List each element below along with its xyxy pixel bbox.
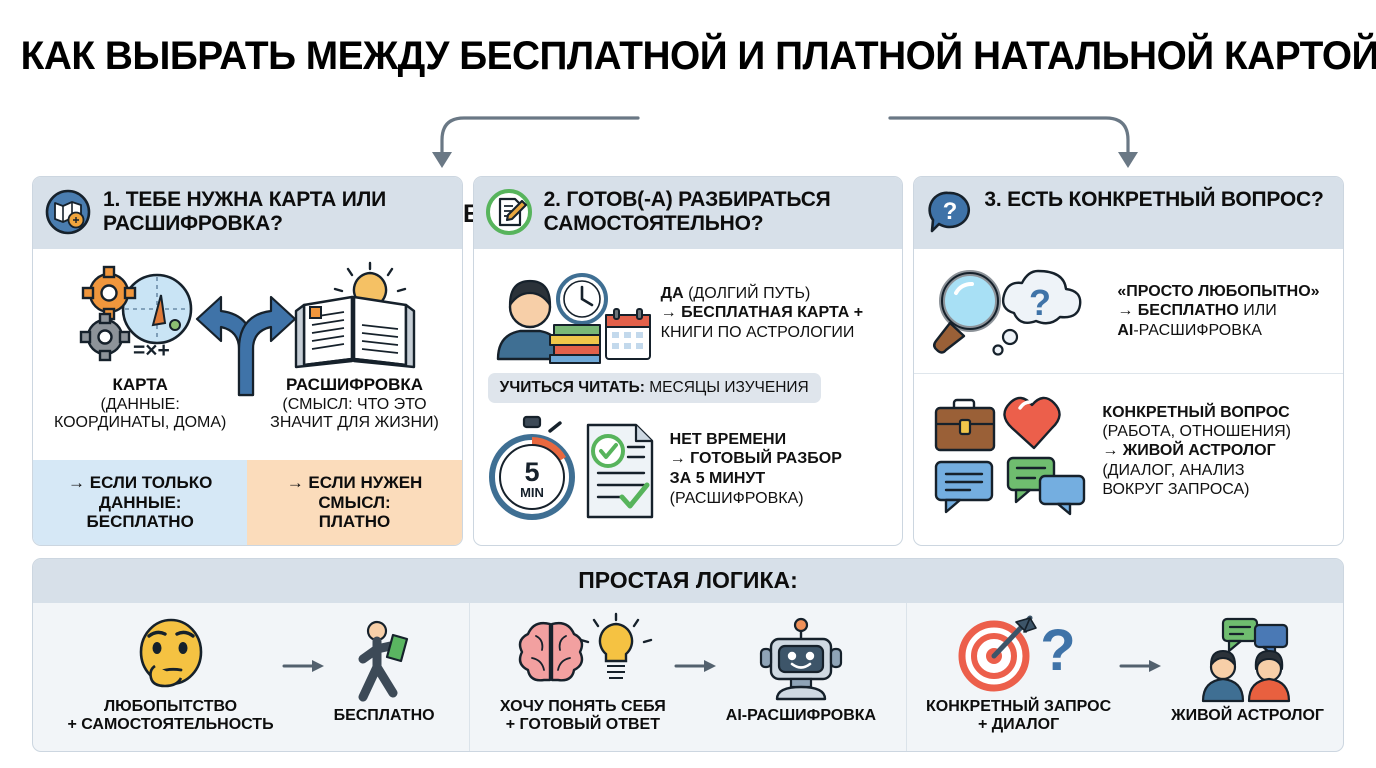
card-2-header: 2. ГОТОВ(-А) РАЗБИРАТЬСЯ САМОСТОЯТЕЛЬНО? xyxy=(474,177,903,249)
card-2: 2. ГОТОВ(-А) РАЗБИРАТЬСЯ САМОСТОЯТЕЛЬНО? xyxy=(473,176,904,546)
card-3-curiosity-row: ? «ПРОСТО ЛЮБОПЫТНО» → БЕСПЛАТНО ИЛИ AI-… xyxy=(914,249,1343,374)
card-2-banner: УЧИТЬСЯ ЧИТАТЬ: МЕСЯЦЫ ИЗУЧЕНИЯ xyxy=(488,373,821,403)
card-3-specific-line1: КОНКРЕТНЫЙ ВОПРОС xyxy=(1102,403,1291,422)
branch-left-connector xyxy=(218,112,638,174)
card-3-specific-text: КОНКРЕТНЫЙ ВОПРОС (РАБОТА, ОТНОШЕНИЯ) → … xyxy=(1102,403,1291,499)
logic-column-3-arrow xyxy=(1119,656,1163,692)
document-pencil-icon xyxy=(486,189,532,235)
card-3-curiosity-line2-strong: → БЕСПЛАТНО xyxy=(1117,302,1238,319)
card-3-specific-line2: (РАБОТА, ОТНОШЕНИЯ) xyxy=(1102,422,1291,441)
card-2-yes-text: ДА (ДОЛГИЙ ПУТЬ) → БЕСПЛАТНАЯ КАРТА + КН… xyxy=(661,284,863,343)
robot-icon xyxy=(759,623,843,701)
card-3-curiosity-line2-rest: ИЛИ xyxy=(1239,302,1277,319)
card-1-left-verdict: → ЕСЛИ ТОЛЬКО ДАННЫЕ: БЕСПЛАТНО xyxy=(33,460,247,545)
card-1-body: =×+ КАРТА (ДАННЫЕ: КООРДИНАТЫ, ДОМА) xyxy=(33,249,462,545)
logic-column-3: ? КОНКРЕТНЫЙ ЗАПРОС + ДИАЛОГ xyxy=(906,603,1343,751)
card-2-no-time-line1: НЕТ ВРЕМЕНИ xyxy=(670,430,842,450)
card-2-no-time-text: НЕТ ВРЕМЕНИ → ГОТОВЫЙ РАЗБОР ЗА 5 МИНУТ … xyxy=(670,430,842,508)
person-clock-books-calendar-icon xyxy=(488,263,653,363)
card-2-banner-rest: МЕСЯЦЫ ИЗУЧЕНИЯ xyxy=(645,379,809,396)
brain-lightbulb-icon xyxy=(518,614,648,692)
card-2-no-time-line2: → ГОТОВЫЙ РАЗБОР xyxy=(670,449,842,469)
stopwatch-5min-checked-doc-icon: 5 MIN xyxy=(490,415,660,523)
question-speech-bubble-icon: ? xyxy=(926,189,972,235)
logic-column-2-arrow xyxy=(674,656,718,692)
logic-column-1-arrow xyxy=(282,656,326,692)
logic-column-3-from-label: КОНКРЕТНЫЙ ЗАПРОС + ДИАЛОГ xyxy=(926,698,1111,735)
page-title: КАК ВЫБРАТЬ МЕЖДУ БЕСПЛАТНОЙ И ПЛАТНОЙ Н… xyxy=(21,34,1356,79)
card-3-specific-line4: (ДИАЛОГ, АНАЛИЗ xyxy=(1102,461,1291,480)
logic-column-2-from: ХОЧУ ПОНЯТЬ СЕБЯ + ГОТОВЫЙ ОТВЕТ xyxy=(500,614,666,735)
card-3-curiosity-text: «ПРОСТО ЛЮБОПЫТНО» → БЕСПЛАТНО ИЛИ AI-РА… xyxy=(1117,282,1319,340)
branch-band: БЕСПЛАТНАЯ ПЛАТНАЯ xyxy=(0,92,1376,174)
logic-column-1-to: БЕСПЛАТНО xyxy=(334,623,435,725)
card-2-no-time-line4: (РАСШИФРОВКА) xyxy=(670,489,842,509)
branch-right-connector xyxy=(890,112,1130,174)
briefcase-heart-chat-icon xyxy=(930,388,1090,514)
card-2-yes-rest: (ДОЛГИЙ ПУТЬ) xyxy=(684,285,811,302)
card-2-yes-strong: ДА xyxy=(661,285,684,302)
card-3-curiosity-line3-rest: -РАСШИФРОВКА xyxy=(1133,322,1262,339)
logic-column-2: ХОЧУ ПОНЯТЬ СЕБЯ + ГОТОВЫЙ ОТВЕТ xyxy=(469,603,906,751)
card-3-specific-row: КОНКРЕТНЫЙ ВОПРОС (РАБОТА, ОТНОШЕНИЯ) → … xyxy=(914,374,1343,528)
fork-split-arrow-icon xyxy=(195,287,299,395)
logic-column-3-to-label: ЖИВОЙ АСТРОЛОГ xyxy=(1171,707,1324,725)
infographic-page: КАК ВЫБРАТЬ МЕЖДУ БЕСПЛАТНОЙ И ПЛАТНОЙ Н… xyxy=(0,0,1376,768)
logic-column-1-from-label: ЛЮБОПЫТСТВО + САМОСТОЯТЕЛЬНОСТЬ xyxy=(67,698,273,735)
card-1-title: 1. ТЕБЕ НУЖНА КАРТА ИЛИ РАСШИФРОВКА? xyxy=(103,188,450,235)
map-compass-icon xyxy=(45,189,91,235)
card-3-specific-line5: ВОКРУГ ЗАПРОСА) xyxy=(1102,480,1291,499)
card-2-body: ДА (ДОЛГИЙ ПУТЬ) → БЕСПЛАТНАЯ КАРТА + КН… xyxy=(474,249,903,545)
logic-column-1-to-label: БЕСПЛАТНО xyxy=(334,707,435,725)
svg-text:?: ? xyxy=(943,198,958,225)
logic-column-2-from-label: ХОЧУ ПОНЯТЬ СЕБЯ + ГОТОВЫЙ ОТВЕТ xyxy=(500,698,666,735)
card-3: ? 3. ЕСТЬ КОНКРЕТНЫЙ ВОПРОС? ? xyxy=(913,176,1344,546)
card-1-footer: → ЕСЛИ ТОЛЬКО ДАННЫЕ: БЕСПЛАТНО → ЕСЛИ Н… xyxy=(33,460,462,545)
card-2-yes-row: ДА (ДОЛГИЙ ПУТЬ) → БЕСПЛАТНАЯ КАРТА + КН… xyxy=(474,249,903,373)
magnifier-thought-bubble-icon: ? xyxy=(930,263,1105,359)
card-2-yes-line2: → БЕСПЛАТНАЯ КАРТА + xyxy=(661,303,863,323)
card-3-body: ? «ПРОСТО ЛЮБОПЫТНО» → БЕСПЛАТНО ИЛИ AI-… xyxy=(914,249,1343,545)
logic-column-2-to-label: AI-РАСШИФРОВКА xyxy=(726,707,876,725)
svg-text:?: ? xyxy=(1029,282,1051,323)
svg-text:=×+: =×+ xyxy=(133,339,170,362)
card-3-title: 3. ЕСТЬ КОНКРЕТНЫЙ ВОПРОС? xyxy=(984,188,1323,212)
decision-cards: 1. ТЕБЕ НУЖНА КАРТА ИЛИ РАСШИФРОВКА? xyxy=(32,176,1344,546)
card-1-right-verdict: → ЕСЛИ НУЖЕН СМЫСЛ: ПЛАТНО xyxy=(247,460,461,545)
card-1-left-sub: (ДАННЫЕ: КООРДИНАТЫ, ДОМА) xyxy=(54,396,226,432)
card-2-title: 2. ГОТОВ(-А) РАЗБИРАТЬСЯ САМОСТОЯТЕЛЬНО? xyxy=(544,188,891,235)
simple-logic-panel: ПРОСТАЯ ЛОГИКА: xyxy=(32,558,1344,752)
card-3-header: ? 3. ЕСТЬ КОНКРЕТНЫЙ ВОПРОС? xyxy=(914,177,1343,249)
card-2-no-time-line3: ЗА 5 МИНУТ xyxy=(670,469,842,489)
card-1-header: 1. ТЕБЕ НУЖНА КАРТА ИЛИ РАСШИФРОВКА? xyxy=(33,177,462,249)
card-3-curiosity-line3-strong: AI xyxy=(1117,322,1133,339)
simple-logic-heading: ПРОСТАЯ ЛОГИКА: xyxy=(33,559,1343,603)
thinking-face-icon xyxy=(133,614,209,692)
stopwatch-value: 5 xyxy=(524,457,539,487)
logic-column-1-from: ЛЮБОПЫТСТВО + САМОСТОЯТЕЛЬНОСТЬ xyxy=(67,614,273,735)
svg-text:?: ? xyxy=(1040,618,1075,683)
logic-column-3-to: ЖИВОЙ АСТРОЛОГ xyxy=(1171,623,1324,725)
logic-column-3-from: ? КОНКРЕТНЫЙ ЗАПРОС + ДИАЛОГ xyxy=(926,614,1111,735)
simple-logic-columns: ЛЮБОПЫТСТВО + САМОСТОЯТЕЛЬНОСТЬ xyxy=(33,603,1343,751)
card-1-comparison: =×+ КАРТА (ДАННЫЕ: КООРДИНАТЫ, ДОМА) xyxy=(33,249,462,460)
logic-column-2-to: AI-РАСШИФРОВКА xyxy=(726,623,876,725)
card-3-specific-line3: → ЖИВОЙ АСТРОЛОГ xyxy=(1102,441,1291,460)
two-people-chat-icon xyxy=(1193,623,1303,701)
card-2-yes-line3: КНИГИ ПО АСТРОЛОГИИ xyxy=(661,323,863,343)
stopwatch-unit: MIN xyxy=(520,485,544,500)
gears-compass-math-icon: =×+ xyxy=(75,261,205,373)
card-3-curiosity-line1: «ПРОСТО ЛЮБОПЫТНО» xyxy=(1117,282,1319,301)
logic-column-1: ЛЮБОПЫТСТВО + САМОСТОЯТЕЛЬНОСТЬ xyxy=(33,603,469,751)
walking-person-book-icon xyxy=(349,623,419,701)
card-1: 1. ТЕБЕ НУЖНА КАРТА ИЛИ РАСШИФРОВКА? xyxy=(32,176,463,546)
card-2-no-time-row: 5 MIN НЕТ ВРЕМЕНИ xyxy=(474,403,903,535)
card-2-banner-wrap: УЧИТЬСЯ ЧИТАТЬ: МЕСЯЦЫ ИЗУЧЕНИЯ xyxy=(474,373,903,403)
open-book-lightbulb-icon xyxy=(290,261,420,373)
target-arrow-question-icon: ? xyxy=(954,614,1084,692)
card-1-right-name: РАСШИФРОВКА xyxy=(286,375,423,395)
card-2-banner-strong: УЧИТЬСЯ ЧИТАТЬ: xyxy=(500,379,645,396)
card-1-right-sub: (СМЫСЛ: ЧТО ЭТО ЗНАЧИТ ДЛЯ ЖИЗНИ) xyxy=(270,396,439,432)
card-1-left-name: КАРТА xyxy=(112,375,167,395)
